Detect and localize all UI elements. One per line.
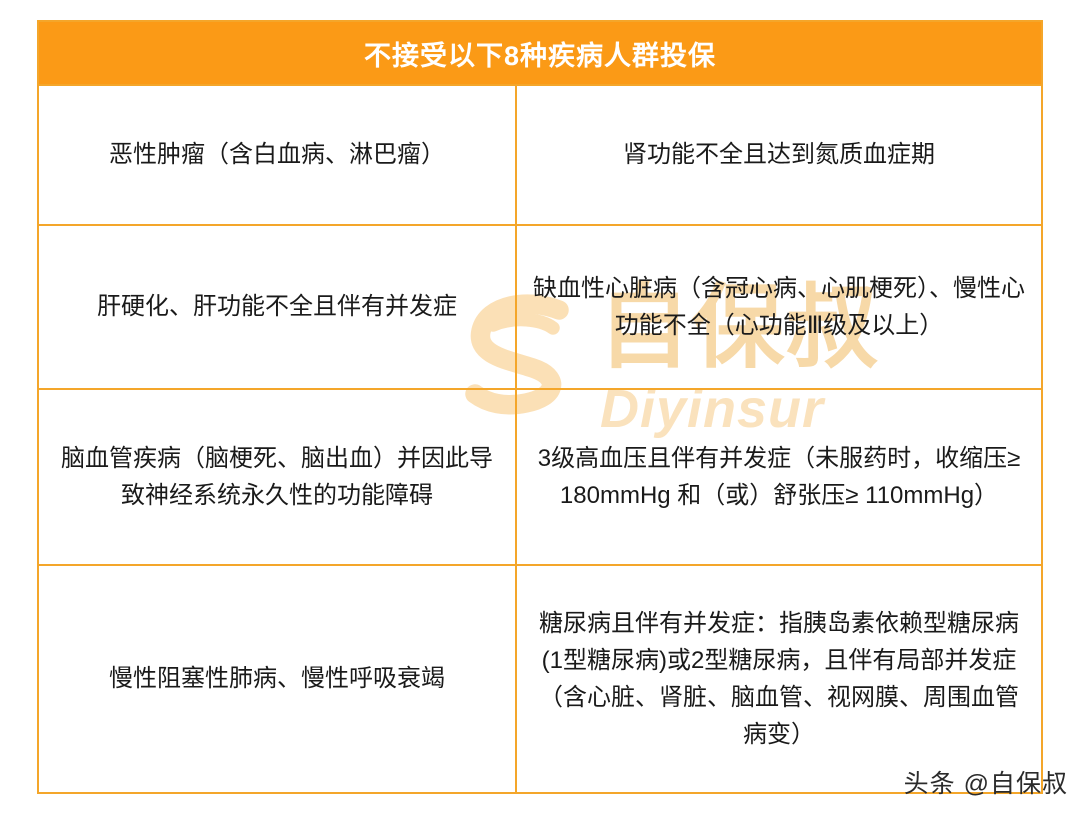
table-cell-left: 慢性阻塞性肺病、慢性呼吸衰竭 xyxy=(39,566,517,792)
table-cell-left: 恶性肿瘤（含白血病、淋巴瘤） xyxy=(39,86,517,224)
table-cell-right: 肾功能不全且达到氮质血症期 xyxy=(517,86,1041,224)
table-row: 脑血管疾病（脑梗死、脑出血）并因此导致神经系统永久性的功能障碍 3级高血压且伴有… xyxy=(39,388,1041,564)
disease-exclusion-table: 不接受以下8种疾病人群投保 恶性肿瘤（含白血病、淋巴瘤） 肾功能不全且达到氮质血… xyxy=(37,20,1043,794)
table-cell-left: 脑血管疾病（脑梗死、脑出血）并因此导致神经系统永久性的功能障碍 xyxy=(39,390,517,564)
table-cell-right: 3级高血压且伴有并发症（未服药时，收缩压≥ 180mmHg 和（或）舒张压≥ 1… xyxy=(517,390,1041,564)
table-row: 恶性肿瘤（含白血病、淋巴瘤） 肾功能不全且达到氮质血症期 xyxy=(39,84,1041,224)
account-watermark: 头条 @自保叔 xyxy=(904,764,1068,800)
table-row: 慢性阻塞性肺病、慢性呼吸衰竭 糖尿病且伴有并发症：指胰岛素依赖型糖尿病(1型糖尿… xyxy=(39,564,1041,792)
table-title: 不接受以下8种疾病人群投保 xyxy=(364,34,716,73)
table-cell-left: 肝硬化、肝功能不全且伴有并发症 xyxy=(39,226,517,388)
table-cell-right: 缺血性心脏病（含冠心病、心肌梗死）、慢性心功能不全（心功能Ⅲ级及以上） xyxy=(517,226,1041,388)
table-row: 肝硬化、肝功能不全且伴有并发症 缺血性心脏病（含冠心病、心肌梗死）、慢性心功能不… xyxy=(39,224,1041,388)
table-cell-right: 糖尿病且伴有并发症：指胰岛素依赖型糖尿病(1型糖尿病)或2型糖尿病，且伴有局部并… xyxy=(517,566,1041,792)
table-header-banner: 不接受以下8种疾病人群投保 xyxy=(39,22,1041,84)
